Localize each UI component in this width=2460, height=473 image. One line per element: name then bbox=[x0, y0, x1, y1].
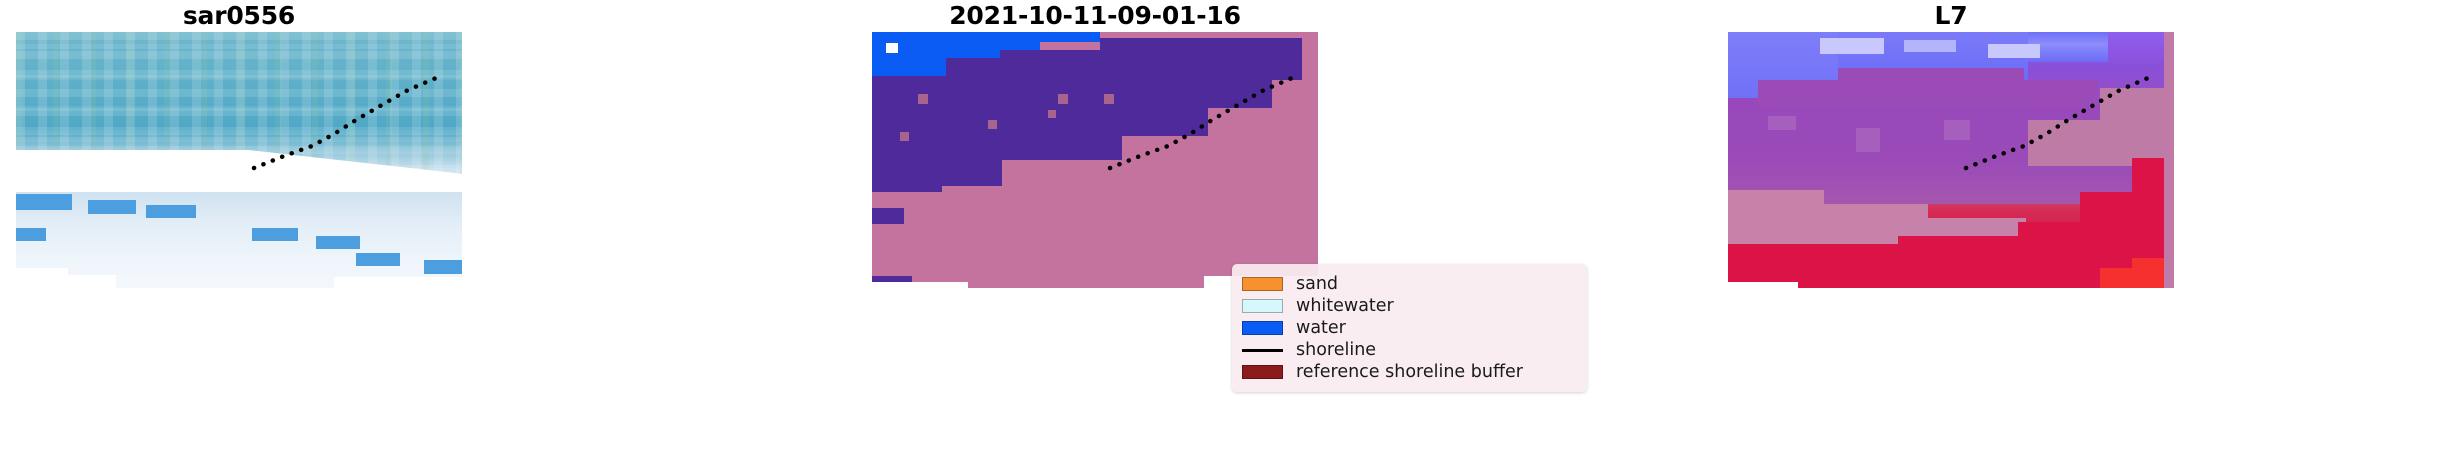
legend-item-water: water bbox=[1242, 317, 1575, 339]
l7-blue-highlight bbox=[1988, 44, 2040, 58]
legend-item-reference-buffer: reference shoreline buffer bbox=[1242, 361, 1575, 383]
panel-classified-axes bbox=[872, 32, 1318, 288]
sar-lower-beach bbox=[16, 192, 462, 288]
l7-purple-region bbox=[1838, 68, 2024, 86]
figure-root: sar0556 bbox=[0, 0, 2460, 473]
l7-blue-highlight bbox=[1904, 40, 1956, 52]
legend-label-shoreline: shoreline bbox=[1296, 339, 1376, 361]
sar-water-bar bbox=[316, 236, 360, 249]
class-speckle bbox=[918, 94, 928, 104]
sar-water-bar bbox=[424, 260, 462, 274]
whitewater-swatch bbox=[1242, 299, 1283, 313]
sar-nodata-bottom bbox=[334, 277, 462, 288]
l7-pink-region bbox=[2100, 88, 2174, 128]
class-speckle bbox=[900, 132, 909, 141]
panel-l7-axes bbox=[1728, 32, 2174, 288]
panel-l7-title: L7 bbox=[1728, 2, 2174, 30]
class-land-island bbox=[872, 208, 904, 224]
legend-label-sand: sand bbox=[1296, 273, 1338, 295]
sand-swatch bbox=[1242, 277, 1283, 291]
legend-item-sand: sand bbox=[1242, 273, 1575, 295]
panel-l7: L7 bbox=[1728, 0, 2174, 473]
panel-sar-axes bbox=[16, 32, 462, 288]
class-water bbox=[872, 32, 946, 76]
l7-purple-texture bbox=[1944, 120, 1970, 140]
class-speckle bbox=[1048, 110, 1056, 118]
panel-classified-title: 2021-10-11-09-01-16 bbox=[872, 2, 1318, 30]
class-sand bbox=[1302, 32, 1318, 88]
sar-water-bar bbox=[252, 228, 298, 241]
reference-buffer-swatch bbox=[1242, 365, 1283, 379]
l7-nodata bbox=[1728, 282, 1798, 288]
class-land bbox=[1100, 38, 1318, 54]
panel-sar: sar0556 bbox=[16, 0, 462, 473]
l7-pink-region bbox=[1728, 190, 1824, 220]
panel-classified: 2021-10-11-09-01-16 bbox=[872, 0, 1318, 473]
class-speckle bbox=[988, 120, 997, 129]
legend-label-reference-buffer: reference shoreline buffer bbox=[1296, 361, 1523, 383]
sar-water-bar bbox=[146, 205, 196, 218]
legend-item-shoreline: shoreline bbox=[1242, 339, 1575, 361]
sar-nodata-bottom bbox=[16, 268, 68, 278]
sar-water-bar bbox=[88, 200, 136, 214]
sar-water-bar bbox=[16, 194, 72, 210]
sar-water-bar bbox=[16, 228, 46, 241]
l7-purple-texture bbox=[1768, 116, 1796, 130]
class-water bbox=[1040, 32, 1100, 42]
class-nodata bbox=[886, 43, 898, 53]
class-speckle bbox=[1058, 94, 1068, 104]
legend-label-whitewater: whitewater bbox=[1296, 295, 1394, 317]
map-legend: sand whitewater water shoreline referenc… bbox=[1232, 264, 1587, 392]
legend-label-water: water bbox=[1296, 317, 1346, 339]
l7-purple-texture bbox=[1856, 128, 1880, 152]
shoreline-line-swatch bbox=[1242, 349, 1283, 352]
class-speckle bbox=[1104, 94, 1114, 104]
l7-edge-strip bbox=[2164, 32, 2174, 288]
class-nodata bbox=[872, 282, 968, 288]
legend-item-whitewater: whitewater bbox=[1242, 295, 1575, 317]
sar-water-bar bbox=[356, 253, 400, 266]
water-swatch bbox=[1242, 321, 1283, 335]
panel-sar-title: sar0556 bbox=[16, 2, 462, 30]
l7-blue-highlight bbox=[1820, 38, 1884, 54]
